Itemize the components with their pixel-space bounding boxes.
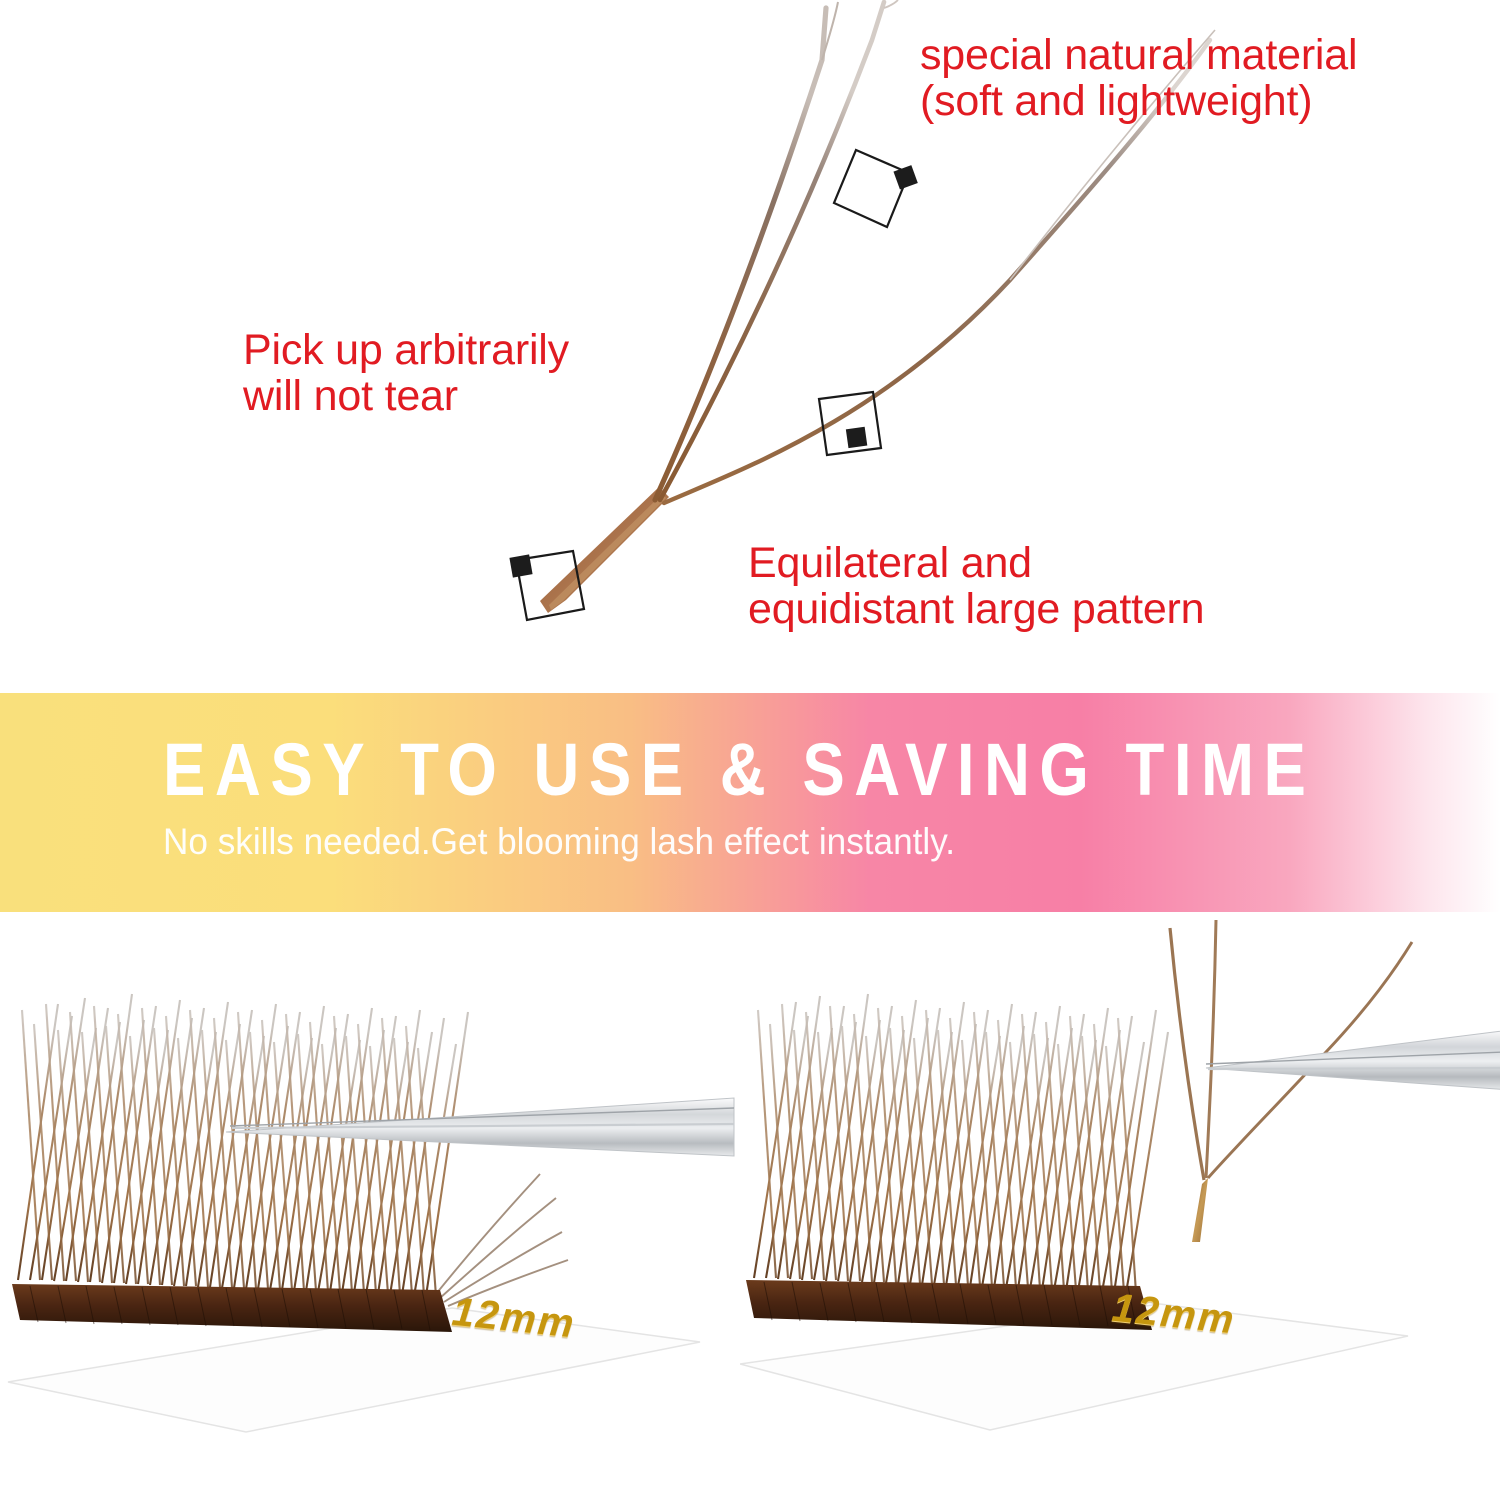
promo-banner: EASY TO USE & SAVING TIME No skills need… (0, 693, 1500, 912)
tweezers-right (1206, 1030, 1500, 1090)
rotated-square-marker-top (834, 150, 918, 227)
top-detail-section: special natural material (soft and light… (0, 0, 1500, 693)
lash-fiber-1 (655, 8, 826, 500)
lash-stray-fibers-left (436, 1174, 568, 1306)
lash-strip-right-illustration (740, 912, 1500, 1500)
callout-pattern-text: Equilateral and equidistant large patter… (748, 540, 1204, 633)
lash-fibers-left (18, 994, 468, 1296)
callout-pickup-text: Pick up arbitrarily will not tear (243, 327, 569, 420)
banner-headline: EASY TO USE & SAVING TIME (163, 733, 1315, 807)
lash-fiber-2 (660, 2, 884, 500)
product-infographic: special natural material (soft and light… (0, 0, 1500, 1500)
bottom-photo-section (0, 912, 1500, 1500)
lash-base-band-right (746, 1280, 1152, 1330)
lash-strip-left-illustration (0, 912, 740, 1500)
photo-panel-left (0, 912, 740, 1500)
banner-subtitle: No skills needed.Get blooming lash effec… (163, 821, 955, 864)
lash-base-band-left (12, 1284, 452, 1332)
picked-lash-fan-right (1170, 920, 1412, 1242)
lash-fibers-right (754, 994, 1168, 1293)
photo-panel-right (740, 912, 1500, 1500)
lash-base-stem (540, 487, 669, 613)
callout-material-text: special natural material (soft and light… (920, 32, 1357, 125)
